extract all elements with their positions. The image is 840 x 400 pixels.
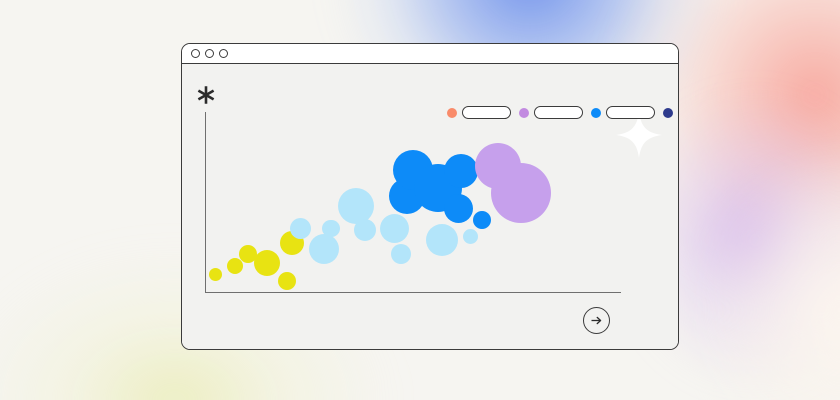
legend-label-series-1 — [462, 106, 511, 119]
next-button[interactable] — [583, 307, 610, 334]
chart-legend — [447, 106, 678, 119]
scatter-bubble — [444, 154, 478, 188]
legend-label-series-3 — [606, 106, 655, 119]
arrow-right-icon — [589, 313, 604, 328]
legend-item[interactable] — [519, 106, 583, 119]
x-axis-line — [205, 292, 621, 293]
window-viewport — [182, 64, 678, 349]
legend-item[interactable] — [447, 106, 511, 119]
scatter-bubble — [278, 272, 296, 290]
legend-dot-series-4 — [663, 108, 673, 118]
legend-item[interactable] — [591, 106, 655, 119]
scatter-bubble — [309, 234, 339, 264]
scatter-bubble — [444, 194, 473, 223]
scatter-bubble — [254, 250, 280, 276]
legend-dot-series-2 — [519, 108, 529, 118]
asterisk-logo — [195, 84, 217, 106]
close-icon[interactable] — [191, 49, 200, 58]
scatter-bubble — [209, 268, 222, 281]
scatter-bubble — [290, 218, 311, 239]
legend-dot-series-3 — [591, 108, 601, 118]
scatter-bubble — [380, 214, 409, 243]
legend-dot-series-1 — [447, 108, 457, 118]
browser-window — [181, 43, 679, 350]
minimize-icon[interactable] — [205, 49, 214, 58]
screenshot-stage — [0, 0, 840, 400]
y-axis-line — [205, 112, 206, 293]
scatter-bubble — [463, 229, 478, 244]
window-titlebar — [182, 44, 678, 64]
scatter-bubble — [473, 211, 491, 229]
legend-item[interactable] — [663, 106, 678, 119]
scatter-bubble — [491, 163, 551, 223]
maximize-icon[interactable] — [219, 49, 228, 58]
scatter-bubble — [391, 244, 411, 264]
legend-label-series-2 — [534, 106, 583, 119]
scatter-bubble — [354, 219, 376, 241]
scatter-bubble — [426, 224, 458, 256]
cream-glow — [690, 150, 840, 400]
